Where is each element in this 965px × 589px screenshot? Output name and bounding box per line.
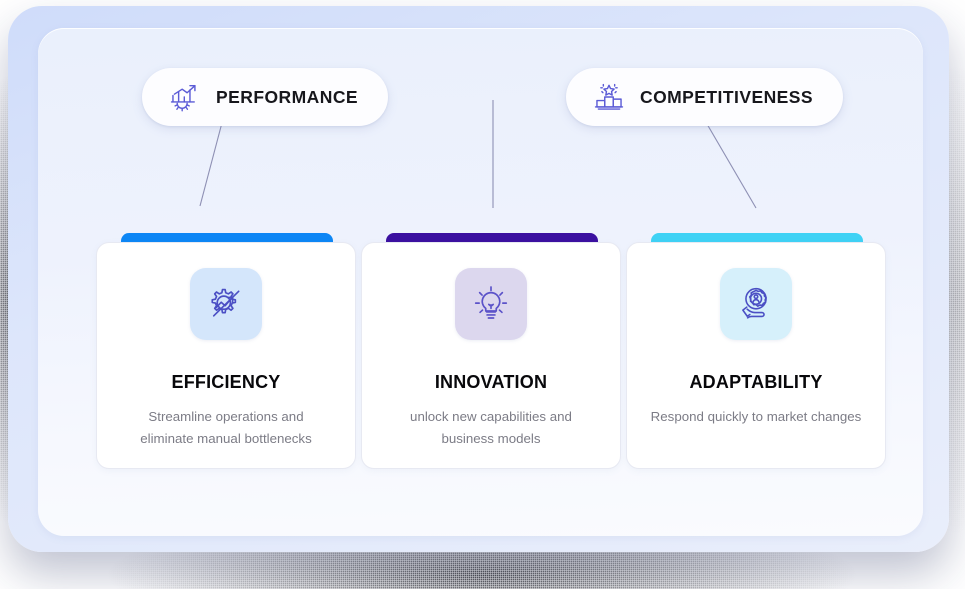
- card-title: EFFICIENCY: [171, 372, 280, 393]
- bar-chart-growth-gear-icon: [168, 80, 202, 114]
- card-title: INNOVATION: [435, 372, 547, 393]
- badge-competitiveness[interactable]: COMPETITIVENESS: [566, 68, 843, 126]
- card-description: Streamline operations and eliminate manu…: [120, 406, 332, 451]
- card-efficiency[interactable]: EFFICIENCY Streamline operations and eli…: [96, 233, 358, 469]
- card-body[interactable]: ADAPTABILITY Respond quickly to market c…: [626, 242, 886, 469]
- card-body[interactable]: INNOVATION unlock new capabilities and b…: [361, 242, 621, 469]
- badge-performance[interactable]: PERFORMANCE: [142, 68, 388, 126]
- card-adaptability[interactable]: ADAPTABILITY Respond quickly to market c…: [626, 233, 888, 469]
- badge-competitiveness-label: COMPETITIVENESS: [640, 87, 813, 108]
- card-icon-tile: [455, 268, 527, 340]
- card-icon-tile: [720, 268, 792, 340]
- card-description: unlock new capabilities and business mod…: [385, 406, 597, 451]
- card-description: Respond quickly to market changes: [650, 406, 862, 428]
- hand-holding-gear-person-icon: [735, 283, 777, 325]
- card-icon-tile: [190, 268, 262, 340]
- card-title: ADAPTABILITY: [689, 372, 822, 393]
- card-innovation[interactable]: INNOVATION unlock new capabilities and b…: [361, 233, 623, 469]
- diagram-panel: PERFORMANCE COMPETITIVENESS: [38, 28, 923, 536]
- badge-performance-label: PERFORMANCE: [216, 87, 358, 108]
- podium-star-icon: [592, 80, 626, 114]
- card-body[interactable]: EFFICIENCY Streamline operations and eli…: [96, 242, 356, 469]
- outer-frame: PERFORMANCE COMPETITIVENESS: [8, 6, 949, 552]
- gear-trend-up-icon: [205, 283, 247, 325]
- lightbulb-idea-icon: [470, 283, 512, 325]
